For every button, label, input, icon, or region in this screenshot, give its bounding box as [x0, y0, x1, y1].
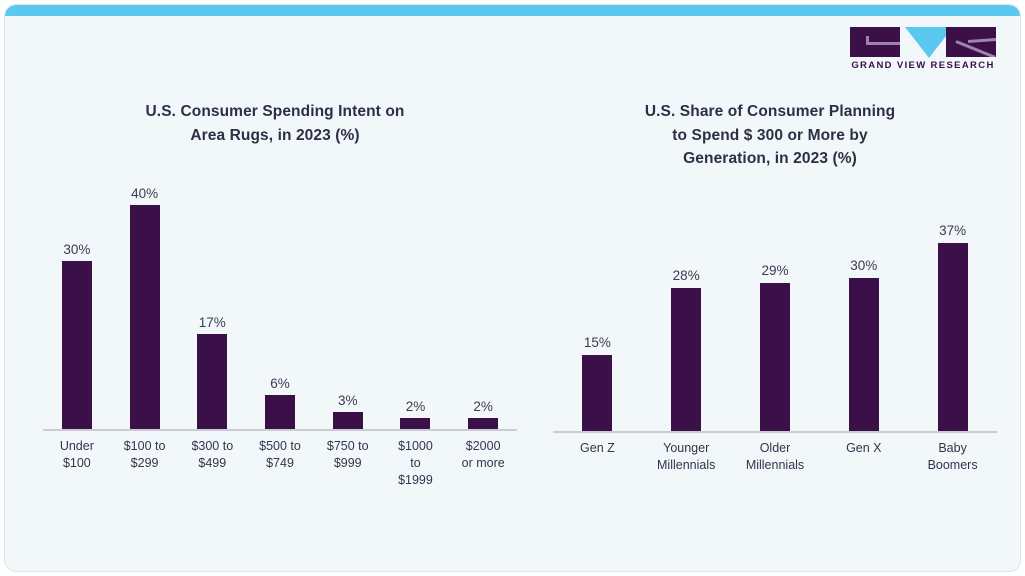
brand-name: GRAND VIEW RESEARCH: [844, 60, 1002, 71]
bar-value-label: 30%: [63, 243, 90, 257]
bar-value-label: 40%: [131, 187, 158, 201]
logo-block-right-icon: [946, 27, 996, 57]
bar-group: 3%: [314, 161, 382, 429]
chart-title-line-1: U.S. Consumer Spending Intent on: [25, 100, 525, 124]
logo-swoosh-lower: [968, 38, 996, 43]
bar-value-label: 28%: [673, 269, 700, 283]
bar-series-generation-share: 15%28%29%30%37%: [553, 185, 997, 431]
x-axis-tick-label: Baby Boomers: [908, 440, 997, 474]
top-accent-bar: [5, 5, 1020, 16]
bar-value-label: 2%: [473, 400, 493, 414]
x-axis-tick-label: Older Millennials: [731, 440, 820, 474]
logo-swoosh-upper: [955, 40, 995, 57]
x-axis-tick-label: Gen Z: [553, 440, 642, 474]
bar-group: 30%: [819, 185, 908, 431]
bar: [197, 334, 227, 429]
bar: [671, 288, 701, 431]
chart-title-line-3: Generation, in 2023 (%): [535, 147, 1005, 171]
bar-value-label: 37%: [939, 224, 966, 238]
x-axis-tick-label: Younger Millennials: [642, 440, 731, 474]
x-axis-tick-label: Under $100: [43, 438, 111, 489]
chart-panel-spending-intent: U.S. Consumer Spending Intent on Area Ru…: [25, 100, 525, 431]
chart-panel-generation-share: U.S. Share of Consumer Planning to Spend…: [535, 100, 1005, 433]
bar-group: 28%: [642, 185, 731, 431]
bar: [333, 412, 363, 429]
bar-value-label: 6%: [270, 377, 290, 391]
chart-title-line-2: Area Rugs, in 2023 (%): [25, 124, 525, 148]
bar-value-label: 3%: [338, 394, 358, 408]
chart-title-spending-intent: U.S. Consumer Spending Intent on Area Ru…: [25, 100, 525, 147]
x-axis-tick-label: $1000 to $1999: [382, 438, 450, 489]
x-axis-labels-right: Gen ZYounger MillennialsOlder Millennial…: [553, 433, 997, 474]
bar: [400, 418, 430, 429]
bar-group: 37%: [908, 185, 997, 431]
chart-title-generation-share: U.S. Share of Consumer Planning to Spend…: [535, 100, 1005, 171]
bar-value-label: 30%: [850, 259, 877, 273]
x-axis-tick-label: Gen X: [819, 440, 908, 474]
infographic-card: GRAND VIEW RESEARCH U.S. Consumer Spendi…: [4, 4, 1021, 572]
x-axis-tick-label: $300 to $499: [178, 438, 246, 489]
bar-value-label: 17%: [199, 316, 226, 330]
bar: [760, 283, 790, 431]
logo-marks: [844, 23, 1002, 57]
bar-group: 2%: [449, 161, 517, 429]
gvr-logo-icon: GRAND VIEW RESEARCH: [844, 23, 1002, 81]
bar-value-label: 29%: [761, 264, 788, 278]
bar-group: 30%: [43, 161, 111, 429]
bar-group: 29%: [731, 185, 820, 431]
logo-notch-horizontal: [866, 42, 900, 45]
bar-group: 17%: [178, 161, 246, 429]
bar-series-spending-intent: 30%40%17%6%3%2%2%: [43, 161, 517, 429]
x-axis-tick-label: $100 to $299: [111, 438, 179, 489]
bar: [265, 395, 295, 429]
bar: [62, 261, 92, 429]
bar-group: 6%: [246, 161, 314, 429]
x-axis-tick-label: $750 to $999: [314, 438, 382, 489]
bar-group: 2%: [382, 161, 450, 429]
logo-block-left-icon: [850, 27, 900, 57]
chart-title-line-2: to Spend $ 300 or More by: [535, 124, 1005, 148]
bar: [849, 278, 879, 431]
bar-value-label: 15%: [584, 336, 611, 350]
plot-area-generation-share: 15%28%29%30%37% Gen ZYounger Millennials…: [535, 185, 1005, 433]
x-axis-tick-label: $500 to $749: [246, 438, 314, 489]
bar-group: 15%: [553, 185, 642, 431]
x-axis-labels-left: Under $100$100 to $299$300 to $499$500 t…: [43, 431, 517, 489]
bar: [468, 418, 498, 429]
bar-group: 40%: [111, 161, 179, 429]
chart-title-line-1: U.S. Share of Consumer Planning: [535, 100, 1005, 124]
plot-area-spending-intent: 30%40%17%6%3%2%2% Under $100$100 to $299…: [25, 161, 525, 431]
bar: [938, 243, 968, 431]
bar: [582, 355, 612, 431]
x-axis-tick-label: $2000 or more: [449, 438, 517, 489]
bar-value-label: 2%: [406, 400, 426, 414]
bar: [130, 205, 160, 429]
